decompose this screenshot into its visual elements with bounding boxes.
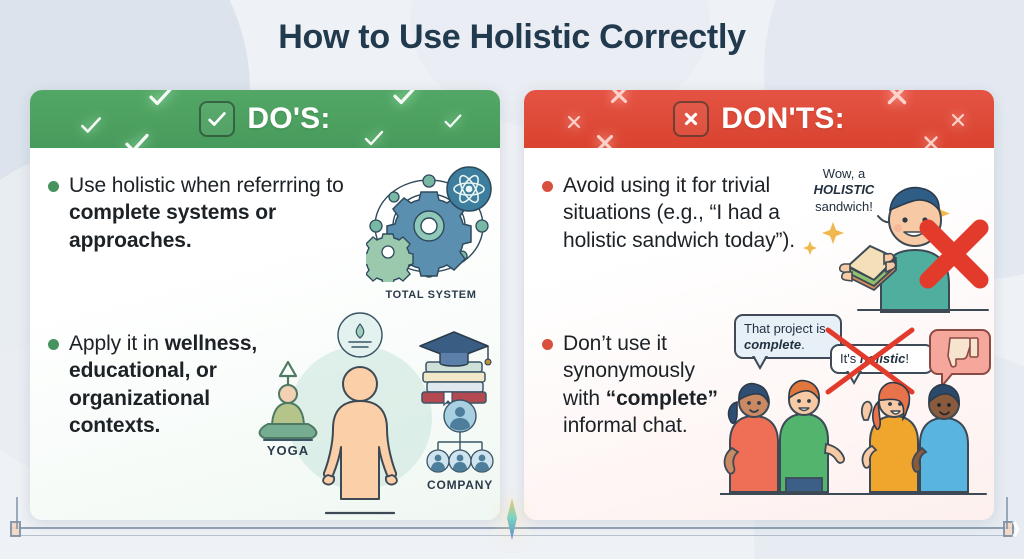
dos-row-2: Apply it in wellness, educational, or or… (30, 316, 500, 520)
total-system-caption: TOTAL SYSTEM (366, 289, 496, 301)
chat-illustration: That project is complete. It's holistic! (720, 308, 994, 518)
dos-bullet-1-text: Use holistic when referrring to complete… (69, 172, 350, 318)
decorative-x-icon (948, 110, 968, 130)
bubble-tail-inner (848, 370, 860, 381)
dos-bullet-1: Use holistic when referrring to complete… (30, 158, 350, 318)
thumbs-down-bubble (930, 330, 990, 386)
donts-row-1: Avoid using it for trivial situations (e… (524, 158, 994, 318)
bubble-holistic: It's holistic! (830, 344, 934, 374)
frame-tick-right (1006, 497, 1008, 529)
donts-header-bar: DON'TS: (524, 90, 994, 148)
sparkle-icon (495, 496, 529, 547)
text-plain: Avoid using it for trivial situations (e… (563, 174, 795, 252)
bubble-complete-pre: That project is (744, 321, 826, 336)
bullet-dot (48, 339, 59, 350)
dos-header-label: DO'S: (247, 102, 330, 136)
text-plain: informal chat. (563, 414, 688, 437)
bubble-holistic-emphasis: holistic (860, 351, 906, 366)
dos-body: Use holistic when referrring to complete… (30, 148, 500, 520)
donts-bullet-2-text: Don’t use it synonymously with “complete… (563, 330, 734, 520)
bullet-dot (48, 181, 59, 192)
lamp-icon (338, 313, 382, 357)
donts-header-label: DON'TS: (721, 102, 845, 136)
donts-bullet-1-text: Avoid using it for trivial situations (e… (563, 172, 802, 318)
decorative-check-icon (442, 110, 464, 132)
donts-bullet-2: Don’t use it synonymously with “complete… (524, 316, 734, 520)
sandwich-illustration: Wow, a HOLISTIC sandwich! (786, 158, 994, 318)
bullet-dot (542, 339, 553, 350)
dos-row-1: Use holistic when referrring to complete… (30, 158, 500, 318)
text-plain: Apply it in (69, 332, 165, 355)
text-plain: Use holistic when referrring to (69, 174, 344, 197)
bubble-complete: That project is complete. (734, 314, 842, 359)
decorative-check-icon (146, 90, 176, 111)
svg-text:YOGA: YOGA (267, 443, 309, 458)
x-box-icon (673, 101, 709, 137)
bubble-tail-inner (754, 355, 766, 366)
decorative-x-icon (920, 132, 942, 148)
donts-panel: DON'TS: Avoid using it for trivial situa… (524, 90, 994, 520)
dos-bullet-2: Apply it in wellness, educational, or or… (30, 316, 268, 520)
dos-bullet-2-text: Apply it in wellness, educational, or or… (69, 330, 268, 520)
holistic-life-illustration: YOGA (252, 310, 500, 516)
check-box-icon (199, 101, 235, 137)
dos-panel: DO'S: Use holistic when referrring to co… (30, 90, 500, 520)
decorative-check-icon (122, 128, 152, 148)
bubble-complete-emphasis: complete (744, 337, 801, 352)
text-emphasis: complete systems or approaches. (69, 201, 276, 251)
donts-bullet-1: Avoid using it for trivial situations (e… (524, 158, 802, 318)
decorative-x-icon (564, 112, 584, 132)
bullet-dot (542, 181, 553, 192)
decorative-check-icon (362, 126, 386, 148)
donts-body: Avoid using it for trivial situations (e… (524, 148, 994, 520)
page-title: How to Use Holistic Correctly (0, 18, 1024, 57)
graduation-books-icon (420, 332, 491, 405)
org-chart-icon: COMPANY (427, 400, 493, 492)
next-arrow-icon[interactable]: ❱ (1009, 519, 1022, 537)
four-people-group (720, 381, 986, 494)
text-emphasis: “complete” (606, 387, 718, 410)
frame-tick-left (16, 497, 18, 529)
dos-header-bar: DO'S: (30, 90, 500, 148)
bubble-complete-post: . (801, 337, 805, 352)
donts-row-2: Don’t use it synonymously with “complete… (524, 316, 994, 520)
decorative-x-icon (592, 130, 618, 148)
company-caption: COMPANY (427, 478, 493, 492)
total-system-illustration: TOTAL SYSTEM (366, 164, 496, 301)
gears-orbit-atom-icon (366, 164, 496, 282)
decorative-x-icon (606, 90, 632, 108)
decorative-check-icon (390, 90, 420, 110)
bubble-holistic-pre: It's (840, 351, 860, 366)
decorative-check-icon (78, 112, 104, 138)
decorative-x-icon (882, 90, 912, 110)
bubble-holistic-post: ! (905, 351, 909, 366)
